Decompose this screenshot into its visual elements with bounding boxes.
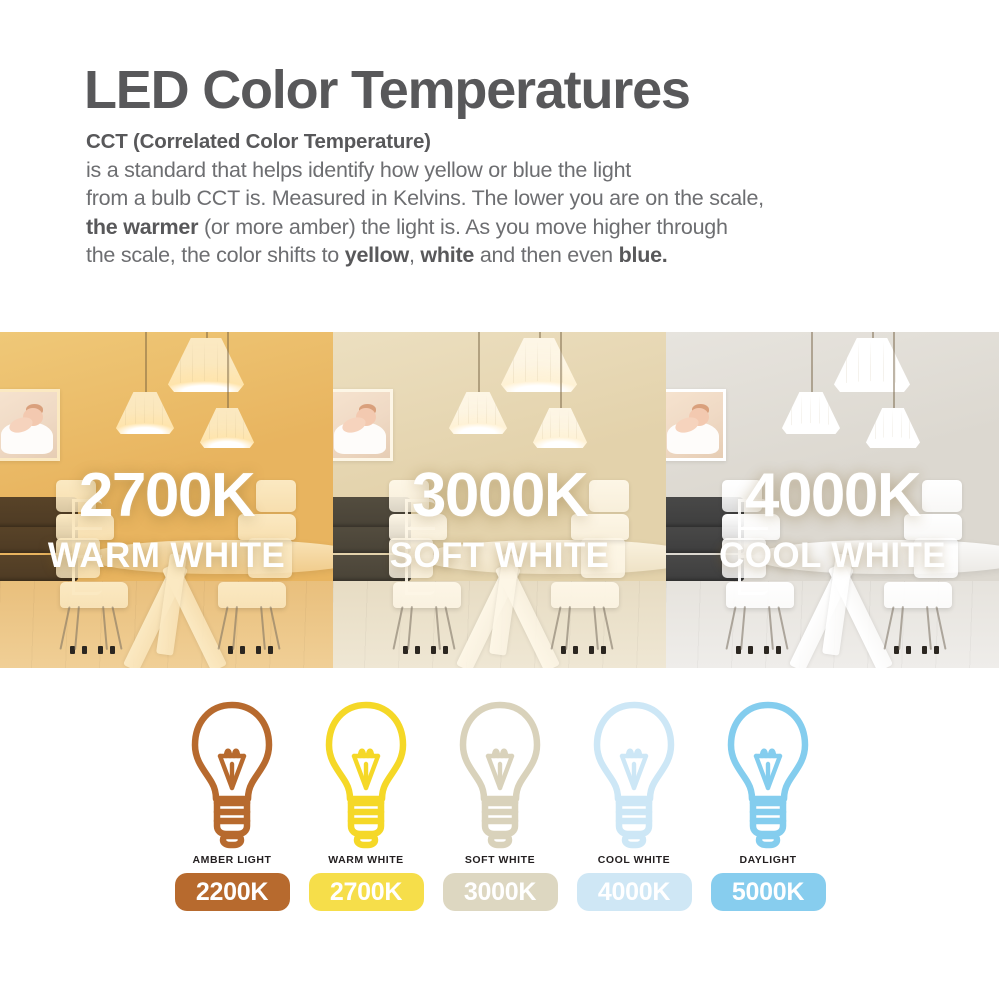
bulb-name-label: SOFT WHITE: [465, 854, 535, 866]
lamp-shade: [449, 392, 507, 434]
bulb-name-label: AMBER LIGHT: [193, 854, 272, 866]
panel-kelvin-label: 4000K: [666, 460, 999, 531]
chair-leg: [593, 606, 599, 650]
kelvin-badge[interactable]: 4000K: [577, 873, 692, 911]
intro-paragraph: CCT (Correlated Color Temperature) is a …: [86, 128, 916, 269]
chair-leg: [740, 606, 746, 650]
chair-foot: [256, 646, 261, 654]
bulb-scale-item-5000k[interactable]: DAYLIGHT5000K: [701, 700, 835, 911]
chair-foot: [268, 646, 273, 654]
wall-picture-frame: [666, 389, 726, 461]
chair-leg: [898, 606, 904, 650]
intro-line-5-sep: ,: [409, 243, 420, 267]
kelvin-badge[interactable]: 5000K: [711, 873, 826, 911]
chair-seat: [884, 582, 952, 608]
chair-seat: [60, 582, 128, 608]
pendant-cord: [145, 332, 147, 392]
pendant-lamp: [834, 338, 910, 392]
pendant-lamp: [200, 408, 254, 448]
chair-leg: [777, 606, 788, 649]
dining-chair: [393, 582, 461, 652]
chair-foot: [431, 646, 436, 654]
chair-foot: [906, 646, 911, 654]
chair-leg: [883, 606, 894, 649]
intro-emph-white: white: [420, 243, 474, 267]
intro-line-2: is a standard that helps identify how ye…: [86, 156, 916, 184]
lightbulb-icon: [186, 700, 278, 850]
chair-foot: [573, 646, 578, 654]
chair-leg: [102, 606, 108, 650]
intro-lead: CCT (Correlated Color Temperature): [86, 128, 916, 156]
intro-line-5-c: and then even: [474, 243, 618, 267]
chair-foot: [776, 646, 781, 654]
pendant-lamp: [116, 392, 174, 434]
pendant-cord: [478, 332, 480, 392]
chair-foot: [415, 646, 420, 654]
photo-panel-3000k: 3000KSOFT WHITE: [333, 332, 666, 668]
page-title: LED Color Temperatures: [84, 62, 690, 119]
lamp-shade: [834, 338, 910, 392]
pendant-cord: [560, 332, 562, 408]
chair-leg: [602, 606, 613, 649]
chair-foot: [748, 646, 753, 654]
lamp-shade-pleat: [513, 341, 514, 389]
chair-foot: [240, 646, 245, 654]
pendant-cord: [893, 332, 895, 408]
wall-picture-frame: [0, 389, 60, 461]
pendant-lamp: [533, 408, 587, 448]
chair-foot: [589, 646, 594, 654]
chair-leg: [768, 606, 774, 650]
chair-leg: [444, 606, 455, 649]
intro-emph-yellow: yellow: [345, 243, 409, 267]
pendant-lamp: [501, 338, 577, 392]
lamp-shade: [168, 338, 244, 392]
panel-temperature-name: SOFT WHITE: [333, 536, 666, 576]
lamp-shade: [866, 408, 920, 448]
chair-seat: [218, 582, 286, 608]
chair-foot: [443, 646, 448, 654]
chair-leg: [260, 606, 266, 650]
lamp-shade-pleat: [180, 341, 181, 389]
lamp-shade: [200, 408, 254, 448]
chair-leg: [435, 606, 441, 650]
bulb-scale-item-2700k[interactable]: WARM WHITE2700K: [299, 700, 433, 911]
lightbulb-icon: [588, 700, 680, 850]
chair-leg: [725, 606, 736, 649]
chair-foot: [98, 646, 103, 654]
chair-leg: [392, 606, 403, 649]
chair-leg: [407, 606, 413, 650]
chair-leg: [269, 606, 280, 649]
chair-foot: [934, 646, 939, 654]
chair-foot: [922, 646, 927, 654]
chair-seat: [393, 582, 461, 608]
intro-line-5: the scale, the color shifts to yellow, w…: [86, 241, 916, 269]
pendant-lamp: [168, 338, 244, 392]
dining-chair: [218, 582, 286, 652]
pendant-cord: [811, 332, 813, 392]
chair-leg: [59, 606, 70, 649]
pendant-cord: [227, 332, 229, 408]
dining-chair: [726, 582, 794, 652]
chair-foot: [601, 646, 606, 654]
chair-leg: [74, 606, 80, 650]
dining-chair: [60, 582, 128, 652]
intro-line-5-a: the scale, the color shifts to: [86, 243, 345, 267]
kelvin-badge[interactable]: 2200K: [175, 873, 290, 911]
chair-seat: [551, 582, 619, 608]
wall-picture-frame: [333, 389, 393, 461]
intro-emph-warmer: the warmer: [86, 215, 198, 239]
color-temperature-scale: AMBER LIGHT2200K WARM WHITE2700K SOFT WH…: [0, 700, 1000, 960]
kelvin-badge[interactable]: 2700K: [309, 873, 424, 911]
panel-kelvin-label: 3000K: [333, 460, 666, 531]
chair-foot: [764, 646, 769, 654]
lightbulb-icon: [320, 700, 412, 850]
lamp-shade: [533, 408, 587, 448]
bulb-scale-item-2200k[interactable]: AMBER LIGHT2200K: [165, 700, 299, 911]
lightbulb-icon: [722, 700, 814, 850]
chair-leg: [111, 606, 122, 649]
header-section: LED Color Temperatures CCT (Correlated C…: [0, 0, 1000, 332]
pendant-lamp: [449, 392, 507, 434]
bulb-name-label: COOL WHITE: [598, 854, 670, 866]
pendant-lamp: [866, 408, 920, 448]
panel-temperature-name: WARM WHITE: [0, 536, 333, 576]
intro-line-4: the warmer (or more amber) the light is.…: [86, 213, 916, 241]
bulb-name-label: DAYLIGHT: [739, 854, 796, 866]
lamp-shade-pleat: [846, 341, 847, 389]
dining-chair: [884, 582, 952, 652]
panel-kelvin-label: 2700K: [0, 460, 333, 531]
bulb-scale-item-3000k[interactable]: SOFT WHITE3000K: [433, 700, 567, 911]
lamp-shade: [782, 392, 840, 434]
chair-seat: [726, 582, 794, 608]
intro-line-3: from a bulb CCT is. Measured in Kelvins.…: [86, 184, 916, 212]
photo-comparison-strip: 2700KWARM WHITE3000KSOFT WHITE4000KCOOL …: [0, 332, 1000, 668]
intro-line-4-rest: (or more amber) the light is. As you mov…: [198, 215, 727, 239]
chair-leg: [935, 606, 946, 649]
chair-leg: [550, 606, 561, 649]
panel-temperature-name: COOL WHITE: [666, 536, 999, 576]
bulb-scale-item-4000k[interactable]: COOL WHITE4000K: [567, 700, 701, 911]
bulb-name-label: WARM WHITE: [328, 854, 404, 866]
chair-leg: [565, 606, 571, 650]
chair-leg: [217, 606, 228, 649]
photo-panel-2700k: 2700KWARM WHITE: [0, 332, 333, 668]
pendant-lamp: [782, 392, 840, 434]
chair-leg: [926, 606, 932, 650]
photo-panel-4000k: 4000KCOOL WHITE: [666, 332, 999, 668]
intro-emph-blue: blue.: [619, 243, 668, 267]
lamp-shade: [501, 338, 577, 392]
dining-chair: [551, 582, 619, 652]
chair-leg: [232, 606, 238, 650]
chair-foot: [82, 646, 87, 654]
lightbulb-icon: [454, 700, 546, 850]
chair-foot: [110, 646, 115, 654]
lamp-shade: [116, 392, 174, 434]
kelvin-badge[interactable]: 3000K: [443, 873, 558, 911]
